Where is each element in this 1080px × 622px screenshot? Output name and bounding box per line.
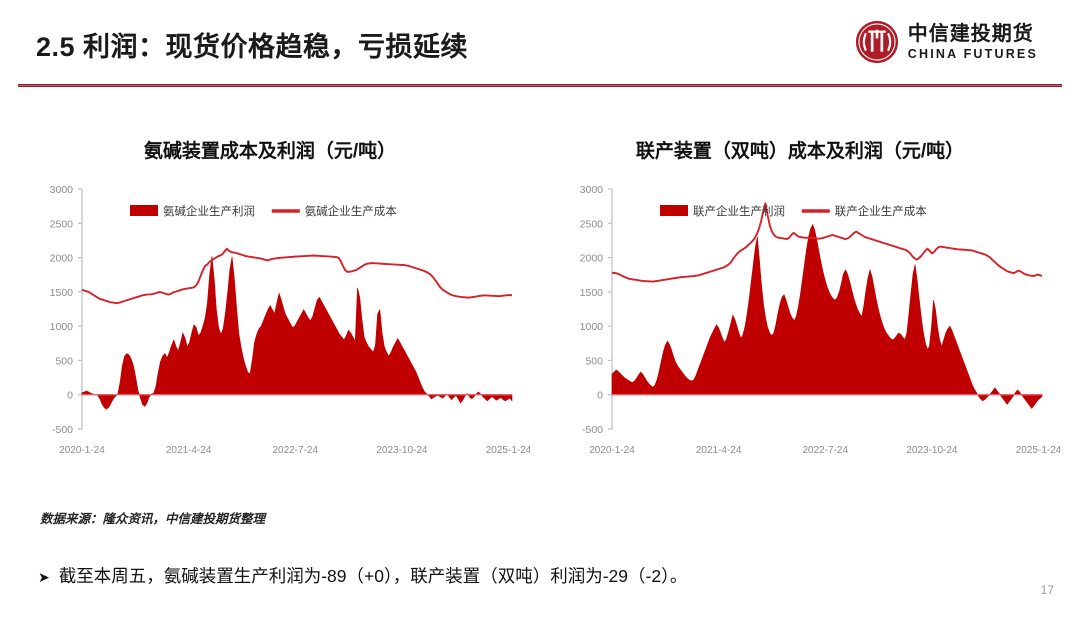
legend-swatch-profit [660, 205, 688, 216]
logo-text-en: CHINA FUTURES [908, 48, 1038, 61]
y-tick-label: 500 [585, 355, 603, 367]
source-note: 数据来源：隆众资讯，中信建投期货整理 [40, 508, 265, 527]
x-tick-label: 2020-1-24 [59, 445, 105, 456]
chart-plot: 300025002000150010005000-5002020-1-24202… [540, 181, 1060, 471]
chart-title: 氨碱装置成本及利润（元/吨） [10, 136, 530, 163]
y-tick-label: 1500 [580, 287, 604, 299]
slide-header: 2.5 利润：现货价格趋稳，亏损延续 中信建投期货 CHINA FUTURES [0, 0, 1080, 88]
chart-svg: 300025002000150010005000-5002020-1-24202… [10, 181, 530, 471]
y-tick-label: 1000 [580, 321, 604, 333]
citic-logo-icon [855, 20, 899, 64]
x-tick-label: 2022-7-24 [802, 445, 848, 456]
y-tick-label: -500 [52, 424, 73, 436]
x-tick-label: 2022-7-24 [272, 445, 318, 456]
charts-area: 氨碱装置成本及利润（元/吨） 300025002000150010005000-… [0, 88, 1080, 488]
y-tick-label: 500 [55, 355, 73, 367]
bullet-arrow-icon: ➤ [38, 570, 50, 584]
chart-plot: 300025002000150010005000-5002020-1-24202… [10, 181, 530, 471]
legend-label-cost: 联产企业生产成本 [835, 204, 927, 218]
legend-label-cost: 氨碱企业生产成本 [305, 204, 397, 218]
legend-swatch-profit [130, 205, 158, 216]
brand-logo: 中信建投期货 CHINA FUTURES [855, 20, 1038, 64]
chart-legend: 联产企业生产利润联产企业生产成本 [660, 204, 927, 218]
cost-line-series [82, 249, 512, 304]
bullet-text: 截至本周五，氨碱装置生产利润为-89（+0），联产装置（双吨）利润为-29（-2… [59, 563, 688, 588]
x-tick-label: 2025-1-24 [486, 445, 530, 456]
x-tick-label: 2023-10-24 [376, 445, 428, 456]
chart-legend: 氨碱企业生产利润氨碱企业生产成本 [130, 204, 397, 218]
y-tick-label: 0 [67, 390, 73, 402]
x-tick-label: 2023-10-24 [906, 445, 958, 456]
logo-text-cn: 中信建投期货 [908, 24, 1038, 44]
x-tick-label: 2021-4-24 [166, 445, 212, 456]
summary-bullet: ➤ 截至本周五，氨碱装置生产利润为-89（+0），联产装置（双吨）利润为-29（… [38, 563, 687, 588]
y-tick-label: 2500 [50, 218, 74, 230]
y-tick-label: 3000 [580, 184, 604, 196]
chart-title: 联产装置（双吨）成本及利润（元/吨） [540, 136, 1060, 163]
slide-root: 2.5 利润：现货价格趋稳，亏损延续 中信建投期货 CHINA FUTURES … [0, 0, 1080, 622]
y-tick-label: 2500 [580, 218, 604, 230]
x-tick-label: 2025-1-24 [1016, 445, 1060, 456]
y-tick-label: 1000 [50, 321, 74, 333]
x-tick-label: 2021-4-24 [696, 445, 742, 456]
legend-label-profit: 联产企业生产利润 [693, 204, 785, 218]
chart-co-production: 联产装置（双吨）成本及利润（元/吨） 300025002000150010005… [540, 88, 1060, 488]
page-number: 17 [1041, 583, 1054, 597]
header-divider [18, 84, 1062, 87]
y-tick-label: 1500 [50, 287, 74, 299]
y-tick-label: -500 [582, 424, 603, 436]
x-tick-label: 2020-1-24 [589, 445, 635, 456]
profit-area-series [82, 256, 512, 409]
legend-label-profit: 氨碱企业生产利润 [163, 204, 255, 218]
y-tick-label: 0 [597, 390, 603, 402]
chart-ammonia-soda: 氨碱装置成本及利润（元/吨） 300025002000150010005000-… [10, 88, 530, 488]
page-title: 2.5 利润：现货价格趋稳，亏损延续 [36, 25, 468, 64]
y-tick-label: 2000 [50, 253, 74, 265]
y-tick-label: 2000 [580, 253, 604, 265]
y-tick-label: 3000 [50, 184, 74, 196]
chart-svg: 300025002000150010005000-5002020-1-24202… [540, 181, 1060, 471]
